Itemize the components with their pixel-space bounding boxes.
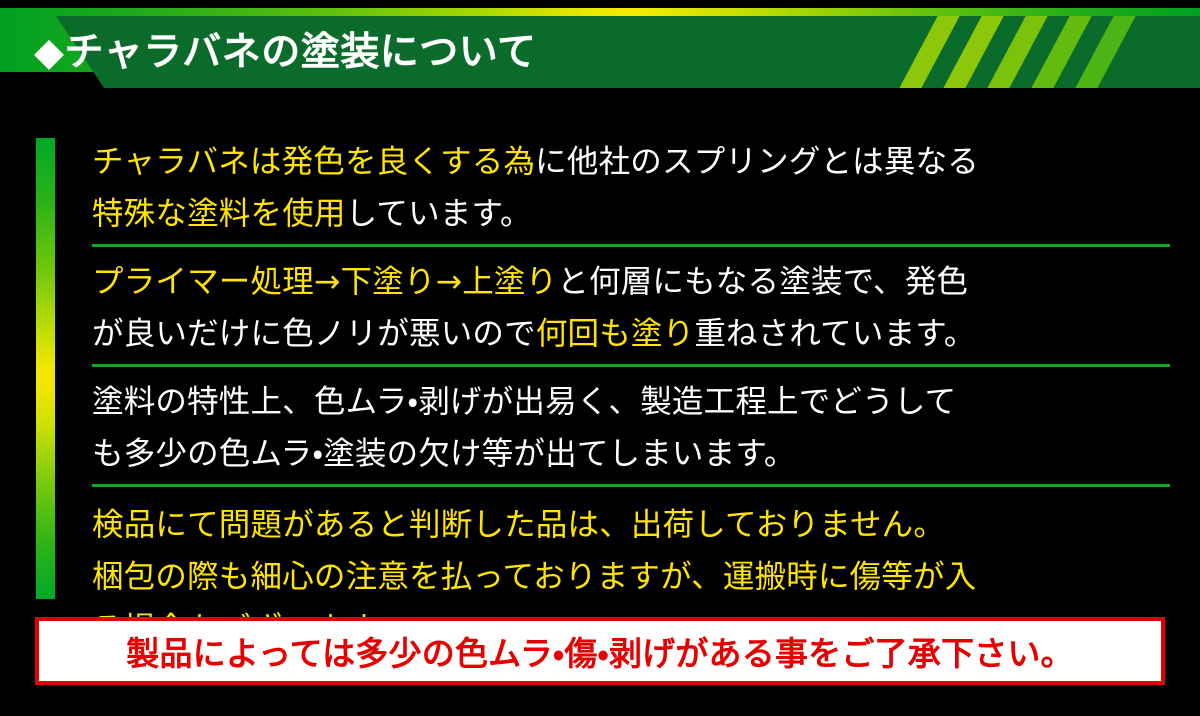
header: ◆チャラバネの塗装について — [0, 0, 1200, 92]
body-text: も多少の色ムラ・塗装の欠け等が出てしまいます。 — [92, 436, 796, 472]
highlighted-text: 特殊な塗料を使用 — [92, 196, 346, 232]
paragraph-line: 特殊な塗料を使用しています。 — [92, 188, 1172, 240]
paragraph-line: プライマー処理→下塗り→上塗りと何層にもなる塗装で、発色 — [92, 256, 1172, 308]
highlighted-text: 何回も塗り — [536, 316, 695, 352]
paragraph-line: 検品にて問題があると判断した品は、出荷しておりません。 — [92, 499, 1172, 551]
highlighted-text: プライマー処理→下塗り→上塗り — [92, 264, 557, 300]
page-title: ◆チャラバネの塗装について — [34, 21, 537, 77]
body-text: と何層にもなる塗装で、発色 — [557, 264, 968, 300]
left-accent-bar — [36, 138, 55, 599]
paragraph-color-unevenness: 塗料の特性上、色ムラ・剥げが出易く、製造工程上でどうしても多少の色ムラ・塗装の欠… — [92, 367, 1172, 484]
paragraph-line: が良いだけに色ノリが悪いので何回も塗り重ねされています。 — [92, 308, 1172, 360]
body-text: に他社のスプリングとは異なる — [535, 144, 979, 180]
body-text: が良いだけに色ノリが悪いので — [92, 316, 536, 352]
body-text: しています。 — [346, 196, 532, 232]
paragraph-coating-material: チャラバネは発色を良くする為に他社のスプリングとは異なる特殊な塗料を使用していま… — [92, 130, 1172, 244]
disclaimer-box: 製品によっては多少の色ムラ・傷・剥げがある事をご了承下さい。 — [35, 617, 1165, 685]
paragraph-coating-process: プライマー処理→下塗り→上塗りと何層にもなる塗装で、発色が良いだけに色ノリが悪い… — [92, 247, 1172, 364]
content-body: チャラバネは発色を良くする為に他社のスプリングとは異なる特殊な塗料を使用していま… — [92, 130, 1172, 655]
body-text: 塗料の特性上、色ムラ・剥げが出易く、製造工程上でどうして — [92, 384, 956, 420]
highlighted-text: チャラバネは発色を良くする為 — [92, 144, 535, 180]
paragraph-line: 梱包の際も細心の注意を払っておりますが、運搬時に傷等が入 — [92, 551, 1172, 603]
paragraph-line: チャラバネは発色を良くする為に他社のスプリングとは異なる — [92, 136, 1172, 188]
paragraph-line: 塗料の特性上、色ムラ・剥げが出易く、製造工程上でどうして — [92, 376, 1172, 428]
body-text: 重ねされています。 — [694, 316, 975, 352]
highlighted-text: 梱包の際も細心の注意を払っておりますが、運搬時に傷等が入 — [92, 559, 976, 595]
highlighted-text: 検品にて問題があると判断した品は、出荷しておりません。 — [92, 507, 945, 543]
paragraph-line: も多少の色ムラ・塗装の欠け等が出てしまいます。 — [92, 428, 1172, 480]
disclaimer-text: 製品によっては多少の色ムラ・傷・剥げがある事をご了承下さい。 — [126, 627, 1074, 675]
product-notice-graphic: ◆チャラバネの塗装について チャラバネは発色を良くする為に他社のスプリングとは異… — [0, 0, 1200, 716]
